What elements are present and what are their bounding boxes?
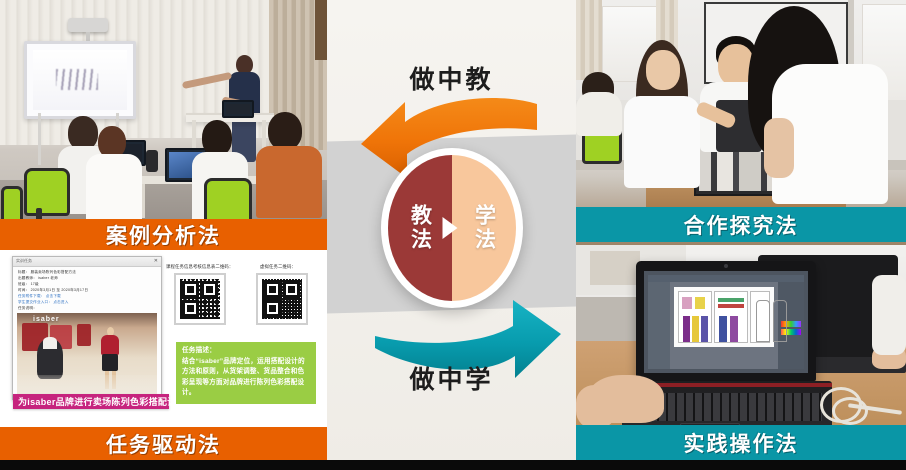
task-description-box: 任务描述： 结合“isaber”品牌定位，运用搭配设计的方法和原则，从货架调整、…: [176, 342, 316, 404]
label-cooperative-inquiry: 合作探究法: [684, 210, 799, 240]
label-bar-task-driven: 任务驱动法: [0, 427, 327, 460]
meta-line-6: 任务说明：: [18, 306, 37, 311]
swatch-i: [730, 316, 738, 342]
circle-text-teaching: 教法: [408, 204, 433, 252]
swatch-e: [701, 316, 708, 342]
white-garment-top: [43, 337, 57, 349]
whiteboard-content: [56, 69, 98, 89]
meta-line-2: 班级： 17级: [18, 282, 39, 287]
design-board-3: [750, 291, 770, 343]
label-bar-cooperative-inquiry: 合作探究法: [576, 207, 906, 242]
meta-line-4[interactable]: 任务附件下载： 点击下载: [18, 294, 61, 299]
cycle-circle: 教法 学法: [381, 148, 523, 308]
whiteboard-stand-left: [38, 113, 41, 165]
whiteboard-surface: [33, 50, 127, 110]
qr-code-virtual-task[interactable]: [256, 273, 308, 325]
main-laptop-screen: [636, 261, 816, 381]
swatch-f: [718, 298, 744, 302]
student-a-body: [624, 96, 700, 188]
wall-trim: [315, 0, 327, 60]
student-4-body: [256, 146, 322, 218]
panel-practical-operation[interactable]: lenovo 实践操作法: [576, 245, 906, 470]
swatch-c: [683, 316, 690, 342]
webcam-icon: [724, 264, 728, 268]
cable-loop-2: [832, 397, 868, 425]
store-floor: [17, 375, 157, 395]
qr-eye-tl: [182, 281, 199, 298]
task-description-body: 结合“isaber”品牌定位，运用搭配设计的方法和原则，从货架调整、货品整合和色…: [182, 357, 310, 399]
student-1-head: [68, 116, 98, 150]
circle-half-learning: 学法: [452, 155, 516, 301]
curtain-left-tr: [576, 0, 602, 80]
design-board-1: [678, 291, 712, 343]
window-title-text: 实训任务: [16, 258, 32, 264]
student-4-head: [268, 112, 302, 150]
swatch-a: [682, 297, 692, 309]
swatch-h: [719, 316, 727, 342]
desk-item: [146, 150, 158, 172]
meta-line-3: 时间： 2020年3月1日 至 2020年3月17日: [18, 288, 88, 293]
app-toolbar: [648, 275, 804, 282]
laptop-display: [644, 271, 808, 373]
model-skirt: [102, 354, 118, 371]
meta-line-1: 出题教师： isaber 老师: [18, 276, 58, 281]
qr-eye-tr: [201, 281, 218, 298]
task-description-title: 任务描述：: [182, 346, 310, 357]
qr-eye-bl: [182, 300, 199, 317]
meta-line-0: 标题： 服装卖场陈列色彩搭配方法: [18, 270, 76, 275]
clothes-rack-3: [77, 324, 91, 346]
store-logo: isaber: [33, 316, 60, 323]
background-furniture: [590, 251, 640, 285]
qr-code-course-info[interactable]: [174, 273, 226, 325]
panel-cooperative-inquiry[interactable]: 合作探究法: [576, 0, 906, 245]
label-practical-operation: 实践操作法: [684, 428, 799, 458]
second-user-body: [872, 275, 906, 355]
store-photo-caption: 为isaber品牌进行卖场陈列色彩搭配设计: [13, 394, 169, 409]
label-task-driven: 任务驱动法: [106, 429, 221, 459]
app-left-panel: [648, 282, 670, 369]
collage-root: 案例分析法 实训任务 ✕ 标题： 服装卖场陈列色彩搭配方法 出题教师： isab…: [0, 0, 906, 470]
design-canvas: [674, 287, 774, 347]
qr-left-caption: 课程任务信息考核信息表二维码：: [166, 264, 233, 270]
label-learn-in-doing: 做中学: [327, 360, 576, 396]
panel-task-driven[interactable]: 实训任务 ✕ 标题： 服装卖场陈列色彩搭配方法 出题教师： isaber 老师 …: [0, 250, 327, 470]
meta-line-5[interactable]: 学生提交作业入口： 点击进入: [18, 300, 69, 305]
background-student-body: [576, 92, 622, 136]
label-bar-practical-operation: 实践操作法: [576, 425, 906, 460]
whiteboard: [24, 41, 136, 119]
podium-laptop: [222, 100, 254, 118]
label-case-analysis: 案例分析法: [106, 220, 221, 250]
store-photo-caption-text: 为isaber品牌进行卖场陈列色彩搭配设计: [18, 395, 186, 408]
label-bar-case-analysis: 案例分析法: [0, 219, 327, 250]
qr-eye-tr-2: [283, 281, 300, 298]
store-display-photo: isaber: [17, 313, 157, 395]
label-teach-in-doing: 做中教: [327, 60, 576, 96]
classroom-lecture-photo: [0, 0, 327, 250]
swatch-b: [695, 297, 705, 309]
garment-outline-2: [773, 300, 787, 342]
student-2-body: [86, 154, 142, 226]
design-board-2: [714, 291, 748, 343]
panel-case-analysis[interactable]: 案例分析法: [0, 0, 327, 250]
design-app-window: [648, 275, 804, 369]
qr-left-image: [180, 279, 220, 319]
projector: [68, 18, 108, 32]
podium-laptop-screen: [226, 104, 250, 114]
task-window-screenshot[interactable]: 实训任务 ✕ 标题： 服装卖场陈列色彩搭配方法 出题教师： isaber 老师 …: [12, 256, 162, 400]
circle-text-learning: 学法: [472, 204, 497, 252]
swatch-g: [718, 304, 744, 308]
model-top: [101, 335, 119, 355]
close-icon[interactable]: ✕: [154, 258, 158, 264]
panel-center-diagram: 做中教 教法 学法: [327, 0, 576, 470]
student-3-head: [202, 120, 232, 156]
chair-1: [24, 168, 70, 216]
student-a-head: [646, 50, 680, 90]
qr-eye-tl-2: [264, 281, 281, 298]
garment-outline-1: [756, 300, 770, 342]
swatch-d: [692, 316, 699, 342]
window-titlebar: 实训任务 ✕: [13, 257, 161, 267]
student-c-arm: [764, 118, 794, 178]
bottom-black-strip: [0, 460, 906, 470]
user-forearm: [576, 385, 616, 429]
qr-right-image: [262, 279, 302, 319]
qr-eye-bl-2: [264, 300, 281, 317]
qr-right-caption: 虚拟任务二维码：: [260, 264, 296, 270]
arrow-triangle-icon: [443, 217, 458, 239]
